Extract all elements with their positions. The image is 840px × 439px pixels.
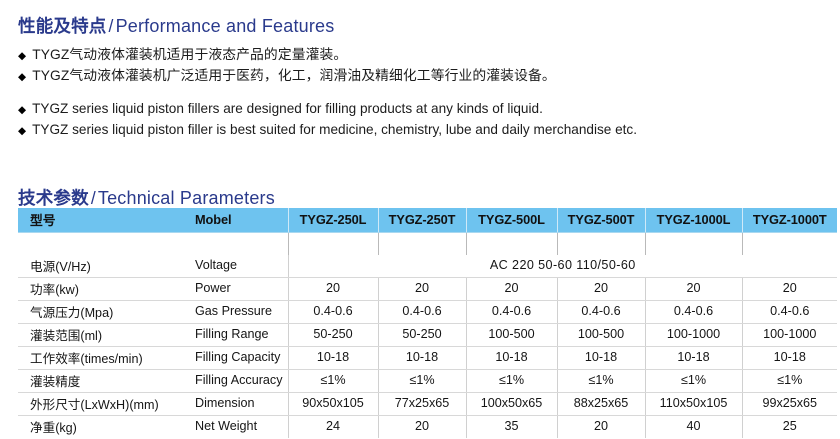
table-cell: 100-500 (557, 323, 645, 346)
column-header-model-0: TYGZ-250L (288, 208, 378, 233)
table-cell: 0.4-0.6 (378, 300, 466, 323)
table-cell: 20 (378, 415, 466, 438)
rule-cell (18, 233, 185, 255)
diamond-bullet-icon: ◆ (18, 121, 26, 141)
column-header-model-en: Mobel (185, 208, 288, 233)
list-item: ◆ TYGZ series liquid piston fillers are … (18, 99, 828, 120)
table-cell: 90x50x105 (288, 392, 378, 415)
table-cell: 100-500 (466, 323, 557, 346)
table-cell: 0.4-0.6 (645, 300, 742, 323)
diamond-bullet-icon: ◆ (18, 100, 26, 120)
table-cell: 20 (557, 415, 645, 438)
diamond-bullet-icon: ◆ (18, 46, 26, 66)
row-label-cn: 净重(kg) (18, 415, 185, 438)
table-cell: 50-250 (378, 323, 466, 346)
row-label-cn: 功率(kw) (18, 277, 185, 300)
table-cell: 10-18 (378, 346, 466, 369)
features-title-separator: / (107, 16, 116, 36)
table-cell: 50-250 (288, 323, 378, 346)
table-cell: ≤1% (557, 369, 645, 392)
table-cell: 0.4-0.6 (742, 300, 837, 323)
row-label-en: Gas Pressure (185, 300, 288, 323)
parameters-section-title: 技术参数/Technical Parameters (18, 185, 275, 210)
row-label-cn: 气源压力(Mpa) (18, 300, 185, 323)
row-label-en: Filling Accuracy (185, 369, 288, 392)
table-row: 外形尺寸(LxWxH)(mm)Dimension90x50x10577x25x6… (18, 392, 837, 415)
row-label-en: Net Weight (185, 415, 288, 438)
list-item: ◆ TYGZ气动液体灌装机适用于液态产品的定量灌装。 (18, 45, 828, 66)
list-item-text: TYGZ气动液体灌装机适用于液态产品的定量灌装。 (32, 45, 347, 65)
list-item-text: TYGZ series liquid piston filler is best… (32, 120, 637, 140)
specifications-table: 型号 Mobel TYGZ-250L TYGZ-250T TYGZ-500L T… (18, 208, 837, 438)
table-cell: 110x50x105 (645, 392, 742, 415)
column-header-model-2: TYGZ-500L (466, 208, 557, 233)
table-cell: 0.4-0.6 (466, 300, 557, 323)
table-cell: 100-1000 (645, 323, 742, 346)
rule-cell (557, 233, 645, 255)
features-bullet-list: ◆ TYGZ气动液体灌装机适用于液态产品的定量灌装。 ◆ TYGZ气动液体灌装机… (18, 45, 828, 141)
parameters-title-en: Technical Parameters (98, 188, 275, 208)
column-header-model-3: TYGZ-500T (557, 208, 645, 233)
table-cell: 88x25x65 (557, 392, 645, 415)
row-label-cn: 电源(V/Hz) (18, 255, 185, 278)
column-header-model-cn: 型号 (18, 208, 185, 233)
table-row: 工作效率(times/min)Filling Capacity10-1810-1… (18, 346, 837, 369)
table-header: 型号 Mobel TYGZ-250L TYGZ-250T TYGZ-500L T… (18, 208, 837, 233)
table-cell: ≤1% (466, 369, 557, 392)
parameters-title-separator: / (89, 188, 98, 208)
table-body: 电源(V/Hz)VoltageAC 220 50-60 110/50-60功率(… (18, 255, 837, 438)
table-cell: 77x25x65 (378, 392, 466, 415)
rule-cell (378, 233, 466, 255)
features-title-cn: 性能及特点 (18, 16, 107, 36)
table-cell: 20 (742, 277, 837, 300)
table-cell: 20 (288, 277, 378, 300)
table-header-row: 型号 Mobel TYGZ-250L TYGZ-250T TYGZ-500L T… (18, 208, 837, 233)
row-label-en: Filling Capacity (185, 346, 288, 369)
table-cell: 10-18 (557, 346, 645, 369)
rule-cell (288, 233, 378, 255)
table-cell: 10-18 (742, 346, 837, 369)
list-spacer (18, 87, 828, 99)
table-cell: ≤1% (288, 369, 378, 392)
table-cell: 20 (378, 277, 466, 300)
list-item: ◆ TYGZ气动液体灌装机广泛适用于医药，化工，润滑油及精细化工等行业的灌装设备… (18, 66, 828, 87)
table-cell: 100-1000 (742, 323, 837, 346)
diamond-bullet-icon: ◆ (18, 67, 26, 87)
table-row: 灌装范围(ml)Filling Range50-25050-250100-500… (18, 323, 837, 346)
table-cell: 20 (645, 277, 742, 300)
row-label-en: Power (185, 277, 288, 300)
row-label-en: Dimension (185, 392, 288, 415)
rule-cell (645, 233, 742, 255)
table-cell: ≤1% (378, 369, 466, 392)
column-header-model-1: TYGZ-250T (378, 208, 466, 233)
row-label-cn: 灌装精度 (18, 369, 185, 392)
spec-table-container: 型号 Mobel TYGZ-250L TYGZ-250T TYGZ-500L T… (18, 208, 837, 438)
row-label-cn: 灌装范围(ml) (18, 323, 185, 346)
row-merged-value: AC 220 50-60 110/50-60 (288, 255, 837, 278)
table-cell: 10-18 (466, 346, 557, 369)
parameters-title-cn: 技术参数 (18, 188, 89, 208)
list-item-text: TYGZ series liquid piston fillers are de… (32, 99, 543, 119)
table-cell: 10-18 (288, 346, 378, 369)
row-label-en: Filling Range (185, 323, 288, 346)
table-cell: ≤1% (645, 369, 742, 392)
list-item: ◆ TYGZ series liquid piston filler is be… (18, 120, 828, 141)
table-cell: 0.4-0.6 (557, 300, 645, 323)
table-cell: 20 (557, 277, 645, 300)
row-label-cn: 工作效率(times/min) (18, 346, 185, 369)
list-item-text: TYGZ气动液体灌装机广泛适用于医药，化工，润滑油及精细化工等行业的灌装设备。 (32, 66, 556, 86)
rule-cell (185, 233, 288, 255)
table-top-rules (18, 233, 837, 255)
table-cell: 99x25x65 (742, 392, 837, 415)
row-label-en: Voltage (185, 255, 288, 278)
table-cell: 10-18 (645, 346, 742, 369)
table-cell: 24 (288, 415, 378, 438)
table-row: 电源(V/Hz)VoltageAC 220 50-60 110/50-60 (18, 255, 837, 278)
row-label-cn: 外形尺寸(LxWxH)(mm) (18, 392, 185, 415)
table-row: 灌装精度Filling Accuracy≤1%≤1%≤1%≤1%≤1%≤1% (18, 369, 837, 392)
table-cell: ≤1% (742, 369, 837, 392)
table-cell: 40 (645, 415, 742, 438)
table-cell: 25 (742, 415, 837, 438)
table-cell: 0.4-0.6 (288, 300, 378, 323)
table-row: 气源压力(Mpa)Gas Pressure0.4-0.60.4-0.60.4-0… (18, 300, 837, 323)
table-cell: 100x50x65 (466, 392, 557, 415)
table-cell: 35 (466, 415, 557, 438)
features-section-title: 性能及特点/Performance and Features (18, 13, 334, 38)
table-row: 功率(kw)Power202020202020 (18, 277, 837, 300)
rule-cell (466, 233, 557, 255)
column-header-model-4: TYGZ-1000L (645, 208, 742, 233)
column-header-model-5: TYGZ-1000T (742, 208, 837, 233)
table-row: 净重(kg)Net Weight242035204025 (18, 415, 837, 438)
table-cell: 20 (466, 277, 557, 300)
rule-cell (742, 233, 837, 255)
features-title-en: Performance and Features (116, 16, 335, 36)
